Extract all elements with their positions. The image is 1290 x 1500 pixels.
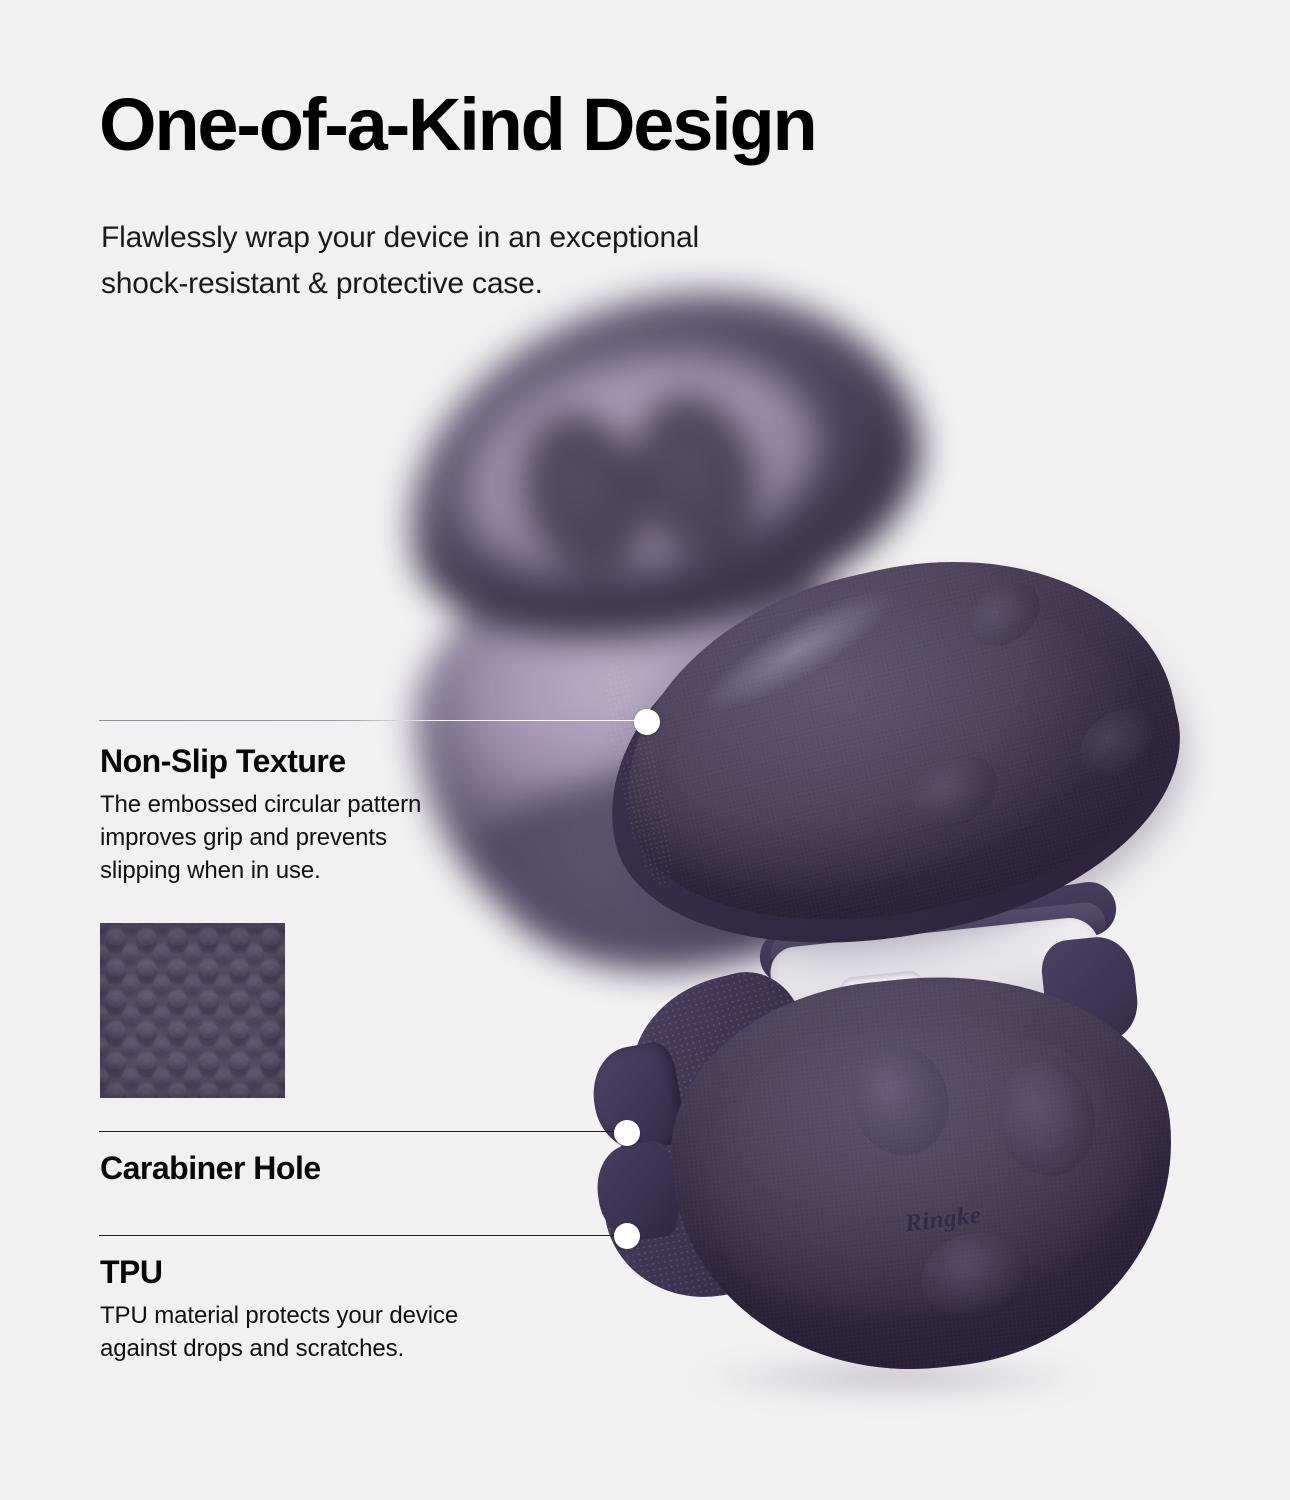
case-upper-lid	[604, 566, 1184, 946]
callout-title: Carabiner Hole	[100, 1150, 570, 1188]
leader-line-carabiner-hole	[99, 1131, 627, 1132]
callout-description: The embossed circular pattern improves g…	[100, 788, 570, 887]
callout-carabiner-hole: Carabiner Hole	[100, 1150, 570, 1188]
leader-dot-tpu	[614, 1223, 640, 1249]
callout-title: Non-Slip Texture	[100, 743, 570, 781]
texture-swatch-image	[100, 923, 285, 1098]
embossed-dot-pattern	[100, 923, 285, 1098]
leader-line-non-slip-texture	[99, 720, 648, 721]
callout-description: TPU material protects your device agains…	[100, 1299, 620, 1365]
page-subtitle: Flawlessly wrap your device in an except…	[101, 215, 699, 306]
page-title: One-of-a-Kind Design	[99, 86, 816, 164]
leader-dot-carabiner-hole	[614, 1120, 640, 1146]
case-lower-body	[592, 930, 1192, 1380]
leader-dot-non-slip-texture	[634, 709, 660, 735]
callout-title: TPU	[100, 1254, 620, 1292]
leader-line-tpu	[99, 1235, 627, 1236]
callout-tpu: TPU TPU material protects your device ag…	[100, 1254, 620, 1365]
callout-non-slip-texture: Non-Slip Texture The embossed circular p…	[100, 743, 570, 887]
